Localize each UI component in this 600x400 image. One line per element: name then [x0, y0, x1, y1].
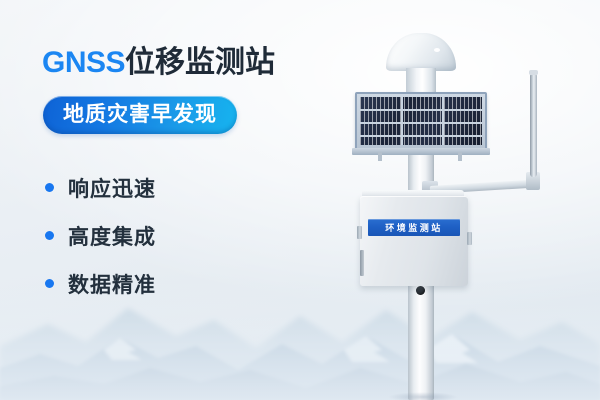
- feature-list: 响应迅速 高度集成 数据精准: [40, 164, 340, 308]
- page-title: GNSS位移监测站: [42, 46, 340, 80]
- promo-poster: 环境监测站 GNSS位移监测站 地质灾害早发现 响应迅速 高度集成 数据精准: [0, 0, 600, 400]
- solar-panel: [355, 92, 487, 150]
- feature-label: 高度集成: [68, 221, 156, 251]
- title-brand: GNSS: [42, 46, 125, 79]
- gnss-antenna-dome: [386, 33, 456, 71]
- antenna-rod-tip: [529, 70, 538, 75]
- text-column: GNSS位移监测站 地质灾害早发现 响应迅速 高度集成 数据精准: [40, 46, 340, 308]
- enclosure-hinge: [360, 250, 364, 276]
- bullet-dot-icon: [45, 183, 54, 192]
- bullet-dot-icon: [45, 279, 54, 288]
- feature-label: 数据精准: [68, 269, 156, 299]
- enclosure-latch: [357, 226, 362, 239]
- enclosure-name-plate-text: 环境监测站: [385, 221, 443, 234]
- list-item: 数据精准: [40, 260, 340, 308]
- gnss-monitoring-station-illustration: 环境监测站: [330, 0, 600, 400]
- panel-strut: [458, 152, 462, 161]
- list-item: 高度集成: [40, 212, 340, 260]
- whip-antenna-rod: [530, 73, 537, 177]
- status-badge: 地质灾害早发现: [43, 96, 237, 134]
- feature-label: 响应迅速: [68, 173, 156, 203]
- ground-shadow: [388, 392, 458, 400]
- pole-port-icon: [416, 286, 425, 295]
- panel-strut: [378, 152, 382, 161]
- dome-neck: [406, 68, 436, 94]
- enclosure-name-plate: 环境监测站: [368, 219, 460, 236]
- list-item: 响应迅速: [40, 164, 340, 212]
- dome-highlight: [434, 48, 440, 52]
- enclosure-latch: [467, 232, 472, 245]
- title-chinese: 位移监测站: [125, 46, 275, 79]
- equipment-enclosure: [360, 196, 468, 286]
- solar-panel-cells: [360, 97, 482, 145]
- solar-panel-base: [352, 148, 490, 155]
- bullet-dot-icon: [45, 231, 54, 240]
